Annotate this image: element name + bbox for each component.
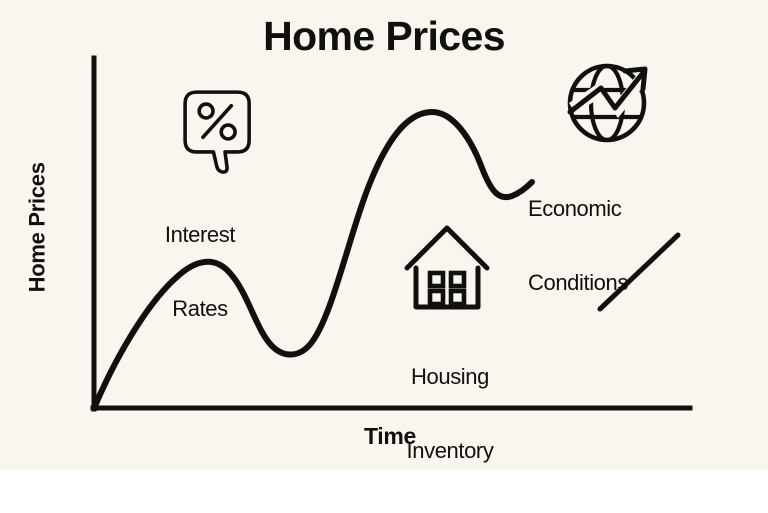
y-axis-label: Home Prices: [26, 127, 51, 327]
annotation-housing-inventory: Housing Inventory: [367, 316, 533, 513]
annotation-economic-conditions-line2: Conditions: [528, 271, 684, 296]
annotation-economic-conditions-line1: Economic: [528, 197, 684, 222]
page-title: Home Prices: [0, 14, 768, 60]
annotation-interest-rates-line1: Interest: [120, 223, 280, 248]
annotation-housing-inventory-line2: Inventory: [367, 439, 533, 464]
globe-trend-arrow-icon: [570, 66, 645, 140]
annotation-economic-conditions: Economic Conditions: [528, 148, 684, 345]
percent-speech-bubble-icon: [185, 92, 249, 172]
annotation-interest-rates-line2: Rates: [120, 297, 280, 322]
house-icon: [407, 228, 487, 307]
chart-canvas: Home Prices Home Prices Time Interest Ra…: [0, 0, 768, 470]
annotation-interest-rates: Interest Rates: [120, 174, 280, 371]
annotation-housing-inventory-line1: Housing: [367, 365, 533, 390]
